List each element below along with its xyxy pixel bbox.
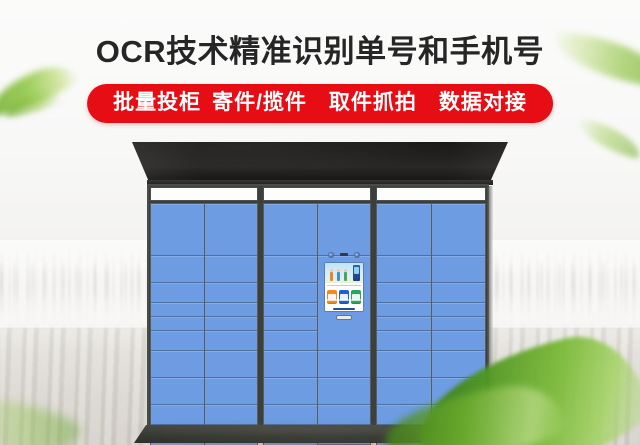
screen-action-buttons [325, 287, 363, 306]
feature-item-1: 批量投柜 [113, 91, 201, 114]
locker-door[interactable] [264, 351, 317, 378]
locker-door[interactable] [151, 256, 204, 283]
feature-pill-banner: 批量投柜寄件/揽件取件抓拍数据对接 [87, 84, 553, 123]
feature-item-4: 数据对接 [439, 91, 527, 114]
banner-person-icon [330, 272, 333, 281]
locker-door[interactable] [318, 204, 371, 256]
kiosk-terminal[interactable] [324, 250, 364, 320]
locker-door[interactable] [318, 351, 371, 378]
locker-door[interactable] [432, 351, 486, 378]
locker-door[interactable] [264, 317, 317, 331]
locker-door[interactable] [205, 378, 258, 405]
locker-door[interactable] [151, 351, 204, 378]
parcel-locker-cabinet [132, 142, 508, 427]
locker-door[interactable] [377, 378, 431, 405]
locker-door[interactable] [151, 303, 204, 317]
locker-column [263, 203, 318, 445]
locker-door[interactable] [432, 204, 486, 256]
locker-column [376, 203, 432, 445]
section-header-strip-left [150, 187, 258, 201]
locker-door[interactable] [205, 283, 258, 303]
locker-door[interactable] [318, 378, 371, 405]
locker-section-center [263, 187, 371, 423]
locker-door[interactable] [377, 405, 431, 425]
locker-column [205, 203, 259, 445]
locker-door[interactable] [432, 331, 486, 351]
locker-section-right [376, 187, 486, 423]
locker-column [432, 203, 487, 445]
locker-door[interactable] [432, 317, 486, 331]
section-header-strip-center [263, 187, 371, 201]
locker-door[interactable] [151, 405, 204, 425]
locker-door[interactable] [377, 331, 431, 351]
poster-stage: OCR技术精准识别单号和手机号 批量投柜寄件/揽件取件抓拍数据对接 [0, 0, 640, 445]
cabinet-canopy [132, 142, 508, 182]
cabinet-body [147, 184, 489, 427]
locker-door[interactable] [432, 283, 486, 303]
locker-door[interactable] [151, 317, 204, 331]
feature-item-3: 取件抓拍 [329, 91, 417, 114]
locker-door-grid-right [376, 203, 486, 445]
locker-door[interactable] [377, 351, 431, 378]
locker-door[interactable] [151, 378, 204, 405]
kiosk-terminal-column [318, 203, 372, 445]
locker-door-grid-left [150, 203, 258, 445]
kiosk-sensor-row [324, 250, 364, 259]
locker-door[interactable] [377, 283, 431, 303]
banner-person-icon [337, 272, 340, 281]
locker-door[interactable] [151, 331, 204, 351]
locker-door[interactable] [205, 256, 258, 283]
footer-indicator [333, 308, 355, 310]
locker-door[interactable] [205, 351, 258, 378]
send-parcel-button[interactable] [351, 290, 361, 304]
locker-door[interactable] [205, 204, 258, 256]
pickup-label-bar [339, 299, 349, 301]
locker-door[interactable] [432, 256, 486, 283]
locker-door-grid-center [263, 203, 371, 445]
locker-door[interactable] [432, 405, 486, 425]
cabinet-ground-shadow [110, 424, 540, 440]
banner-locker-graphic [353, 265, 360, 281]
deposit-parcel-button[interactable] [327, 290, 337, 304]
locker-door[interactable] [151, 283, 204, 303]
camera-lens-icon [328, 252, 334, 258]
page-title: OCR技术精准识别单号和手机号 [0, 26, 640, 71]
locker-door[interactable] [264, 331, 317, 351]
banner-person-icon [344, 272, 347, 281]
locker-section-left [150, 187, 258, 423]
locker-door[interactable] [318, 405, 371, 425]
send-label-bar [351, 299, 361, 301]
locker-door[interactable] [151, 204, 204, 256]
locker-door[interactable] [432, 378, 486, 405]
locker-door[interactable] [205, 331, 258, 351]
locker-door[interactable] [377, 303, 431, 317]
screen-footer-bar [325, 306, 363, 311]
kiosk-touchscreen[interactable] [324, 262, 364, 312]
locker-door[interactable] [264, 204, 317, 256]
pickup-parcel-button[interactable] [339, 290, 349, 304]
locker-door[interactable] [377, 317, 431, 331]
locker-door[interactable] [264, 256, 317, 283]
locker-door[interactable] [432, 303, 486, 317]
locker-door[interactable] [377, 256, 431, 283]
ticker-line [327, 285, 361, 286]
locker-door[interactable] [264, 378, 317, 405]
feature-item-2: 寄件/揽件 [212, 91, 307, 114]
camera-lens-icon [354, 252, 360, 258]
locker-door[interactable] [205, 303, 258, 317]
ir-emitter-icon [340, 253, 348, 256]
screen-banner-illustration [325, 263, 363, 283]
locker-door[interactable] [264, 405, 317, 425]
deposit-label-bar [327, 299, 337, 301]
locker-door[interactable] [264, 283, 317, 303]
section-header-strip-right [376, 187, 486, 201]
locker-door[interactable] [205, 317, 258, 331]
locker-door[interactable] [377, 204, 431, 256]
card-reader-slot[interactable] [336, 315, 352, 320]
locker-door[interactable] [205, 405, 258, 425]
locker-column [150, 203, 205, 445]
locker-door[interactable] [264, 303, 317, 317]
cabinet-side-shadow [488, 186, 493, 424]
